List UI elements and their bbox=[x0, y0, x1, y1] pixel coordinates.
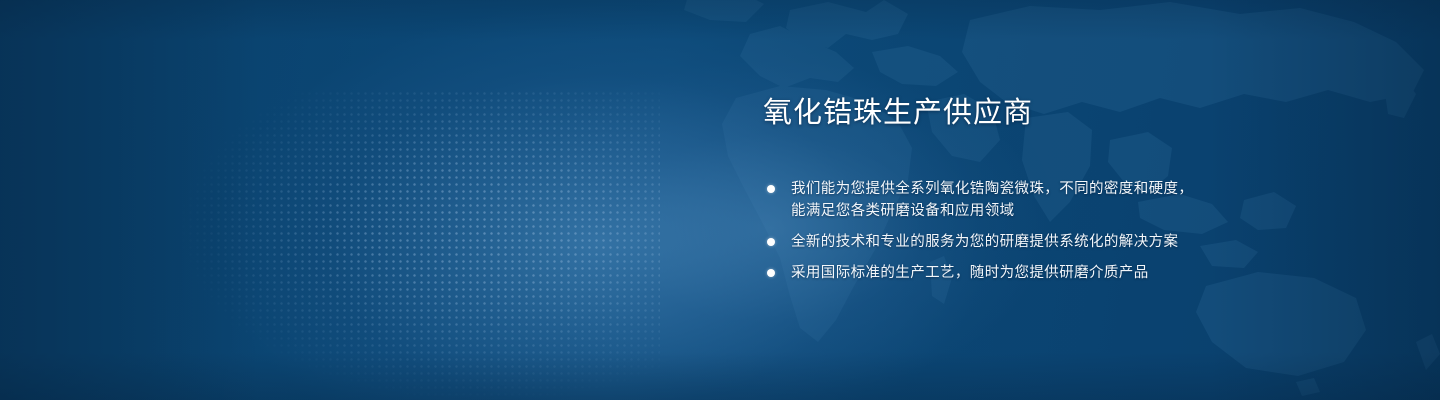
bullet-dot-icon bbox=[767, 269, 775, 277]
feature-text-line2: 能满足您各类研磨设备和应用领域 bbox=[791, 200, 1383, 222]
feature-text-line1: 全新的技术和专业的服务为您的研磨提供系统化的解决方案 bbox=[791, 234, 1178, 250]
hero-banner: 氧化锆珠生产供应商 我们能为您提供全系列氧化锆陶瓷微珠，不同的密度和硬度， 能满… bbox=[0, 0, 1440, 400]
bullet-dot-icon bbox=[767, 238, 775, 246]
feature-text-line1: 采用国际标准的生产工艺，随时为您提供研磨介质产品 bbox=[791, 265, 1149, 281]
banner-copy: 氧化锆珠生产供应商 我们能为您提供全系列氧化锆陶瓷微珠，不同的密度和硬度， 能满… bbox=[763, 96, 1383, 284]
banner-headline: 氧化锆珠生产供应商 bbox=[763, 96, 1383, 131]
bullet-dot-icon bbox=[767, 185, 775, 193]
feature-list: 我们能为您提供全系列氧化锆陶瓷微珠，不同的密度和硬度， 能满足您各类研磨设备和应… bbox=[763, 178, 1383, 284]
feature-text-line1: 我们能为您提供全系列氧化锆陶瓷微珠，不同的密度和硬度， bbox=[791, 181, 1193, 197]
list-item: 采用国际标准的生产工艺，随时为您提供研磨介质产品 bbox=[763, 262, 1383, 284]
list-item: 我们能为您提供全系列氧化锆陶瓷微珠，不同的密度和硬度， 能满足您各类研磨设备和应… bbox=[763, 178, 1383, 222]
list-item: 全新的技术和专业的服务为您的研磨提供系统化的解决方案 bbox=[763, 231, 1383, 253]
